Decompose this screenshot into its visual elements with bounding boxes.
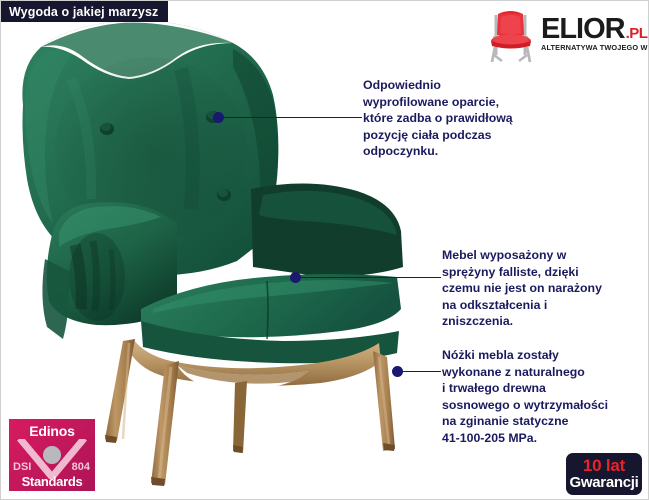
brand-logo: ELIOR .PL ALTERNATYWA TWOJEGO WNĘTRZA: [484, 3, 644, 65]
brand-name-row: ELIOR .PL: [541, 17, 649, 42]
edinos-certification-badge: Edinos DSI 804 Standards: [9, 419, 95, 491]
brand-wordmark: ELIOR .PL ALTERNATYWA TWOJEGO WNĘTRZA: [541, 17, 649, 51]
warranty-years: 10 lat: [583, 457, 625, 475]
warranty-badge: 10 lat Gwarancji: [566, 453, 642, 495]
warranty-label: Gwarancji: [570, 475, 639, 491]
armchair-illustration: [1, 9, 421, 489]
callout-text-legs: Nóżki mebla zostały wykonane z naturalne…: [442, 347, 647, 447]
callout-text-springs: Mebel wyposażony w sprężyny falliste, dz…: [442, 247, 642, 330]
brand-name: ELIOR: [541, 17, 625, 42]
brand-tld: .PL: [626, 26, 648, 42]
callout-line-legs: [402, 371, 441, 372]
product-infographic: Wygoda o jakiej marzysz: [0, 0, 649, 500]
page-title-banner: Wygoda o jakiej marzysz: [1, 1, 168, 22]
edinos-standard-prefix: DSI: [13, 461, 31, 473]
edinos-standards-label: Standards: [9, 474, 95, 489]
edinos-title: Edinos: [9, 423, 95, 439]
callout-text-backrest: Odpowiednio wyprofilowane oparcie, które…: [363, 77, 578, 160]
brand-tagline: ALTERNATYWA TWOJEGO WNĘTRZA: [541, 44, 649, 51]
page-title: Wygoda o jakiej marzysz: [9, 5, 158, 19]
callout-line-backrest: [223, 117, 362, 118]
callout-dot-legs: [392, 366, 403, 377]
edinos-standard-number: 804: [72, 461, 90, 473]
red-chair-logo-icon: [484, 5, 538, 63]
edinos-checkmark-icon: [16, 439, 88, 479]
callout-dot-backrest: [213, 112, 224, 123]
callout-line-springs: [300, 277, 441, 278]
callout-dot-springs: [290, 272, 301, 283]
